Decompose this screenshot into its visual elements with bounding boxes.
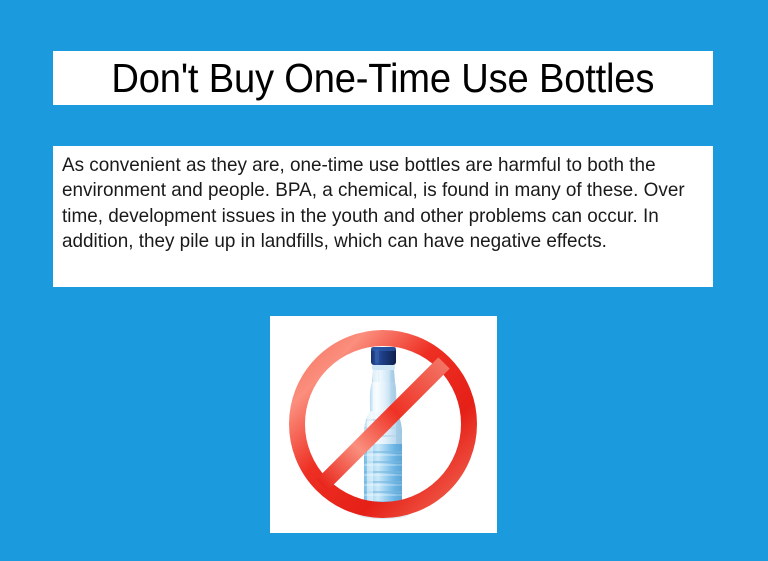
page-title: Don't Buy One-Time Use Bottles xyxy=(112,58,655,99)
slide-canvas: Don't Buy One-Time Use Bottles As conven… xyxy=(0,0,768,561)
slide-image xyxy=(270,316,497,533)
body-text-box: As convenient as they are, one-time use … xyxy=(53,146,713,287)
body-paragraph: As convenient as they are, one-time use … xyxy=(62,153,693,255)
no-plastic-bottle-icon xyxy=(270,316,497,533)
title-box: Don't Buy One-Time Use Bottles xyxy=(53,51,713,105)
